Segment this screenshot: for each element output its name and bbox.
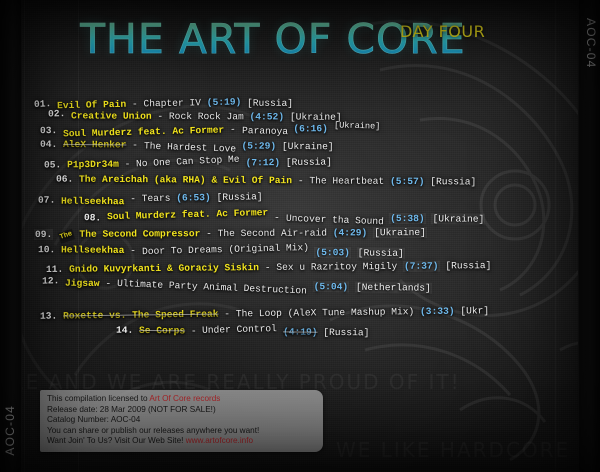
track-country: [Russia]	[357, 247, 405, 259]
track-number: 12.	[42, 275, 60, 286]
track-row: 02. Creative Union - Rock Rock Jam (4:52…	[48, 110, 342, 123]
track-duration: (6:53)	[176, 192, 211, 204]
website-prefix: Want Join' To Us? Visit Our Web Site!	[47, 436, 186, 445]
track-separator: -	[268, 212, 285, 223]
track-artist: Se Corps	[139, 325, 185, 336]
track-title: Tears	[142, 193, 171, 204]
track-artist: Hellseekhaa	[61, 196, 124, 208]
track-row: 06. The Areichah (aka RHA) & Evil Of Pai…	[56, 174, 476, 188]
track-separator: -	[152, 111, 169, 122]
track-duration: (3:33)	[420, 306, 455, 317]
track-title: No One Can Stop Me	[136, 154, 240, 170]
track-title: Uncover tha Sound	[285, 213, 383, 227]
track-row: 09. The The Second Compressor - The Seco…	[34, 227, 427, 242]
track-title: Sex u Razritoy Migily	[276, 261, 397, 273]
track-title: The Loop (AleX Tune Mashup Mix)	[236, 306, 415, 319]
track-separator: -	[126, 98, 144, 109]
track-number: 06.	[56, 174, 73, 185]
track-country: [Russia]	[286, 156, 332, 167]
track-duration: (4:29)	[333, 227, 368, 238]
track-country: [Russia]	[323, 327, 369, 338]
track-row: 01. Evil Of Pain - Chapter IV (5:19) [Ru…	[34, 95, 293, 111]
album-title-block: THE ART OF CORE THE ART OF CORE	[80, 14, 560, 66]
track-country: [Ukraine]	[282, 141, 334, 152]
track-separator: -	[224, 124, 241, 135]
track-number: 11.	[46, 264, 63, 275]
track-country: [Ukraine]	[334, 120, 381, 132]
track-title: The Hardest Love	[143, 140, 235, 154]
track-row: 12. Jigsaw - Ultimate Party Animal Destr…	[42, 277, 432, 293]
track-row: 13. Roxette vs. The Speed Freak - The Lo…	[40, 305, 489, 321]
track-country: [Ukr]	[460, 305, 489, 316]
license-info-panel: This compilation licensed to Art Of Core…	[40, 390, 323, 452]
track-number: 13.	[40, 311, 57, 322]
track-title: Chapter IV	[143, 97, 201, 109]
track-row: 14. Se Corps - Under Control (4:19) [Rus…	[116, 325, 369, 339]
track-number: 05.	[44, 159, 61, 170]
track-artist: The Areichah (aka RHA) & Evil Of Pain	[79, 174, 292, 186]
track-artist: The Second Compressor	[79, 228, 200, 240]
track-separator: -	[100, 278, 117, 289]
track-duration: (5:57)	[390, 176, 425, 187]
track-artist: Hellseekhaa	[61, 244, 124, 256]
track-separator: -	[185, 325, 202, 336]
track-duration: (5:04)	[313, 281, 350, 293]
track-separator: -	[292, 175, 309, 186]
share-permission-line: You can share or publish our releases an…	[47, 426, 316, 437]
track-separator: -	[119, 159, 136, 170]
track-number: 09.	[34, 229, 53, 240]
track-duration: (4:52)	[250, 111, 285, 122]
track-duration: (5:29)	[242, 140, 277, 151]
track-title: Paranoya	[241, 125, 287, 137]
track-duration: (5:03)	[314, 247, 351, 258]
seam-line	[24, 0, 25, 472]
release-date-line: Release date: 28 Mar 2009 (NOT FOR SALE!…	[47, 405, 316, 416]
track-title: Under Control	[202, 323, 277, 336]
label-name: Art Of Core records	[149, 394, 220, 403]
track-artist: AleX Henker	[63, 139, 126, 151]
track-title: Ultimate Party Animal Destruction	[117, 278, 307, 297]
right-spine-rail	[578, 0, 600, 472]
left-spine-rail	[0, 0, 22, 472]
track-duration: (5:19)	[207, 96, 242, 108]
license-line: This compilation licensed to Art Of Core…	[47, 394, 316, 405]
album-edition-label: DAY FOUR	[400, 22, 485, 41]
track-title: The Heartbeat	[309, 175, 384, 187]
track-country: [Russia]	[445, 260, 491, 271]
track-duration: (6:16)	[293, 123, 328, 134]
track-title: Door To Dreams (Original Mix)	[142, 242, 309, 257]
track-country: [Russia]	[430, 176, 476, 187]
track-artist: P1p3Dr34m	[67, 159, 119, 171]
track-duration: (4:19)	[283, 326, 318, 337]
track-separator: -	[124, 245, 141, 256]
track-artist: Soul Murderz feat. Ac Former	[63, 124, 224, 139]
track-country: [Ukraine]	[373, 227, 427, 238]
track-number: 04.	[40, 139, 57, 150]
track-number: 10.	[38, 244, 55, 255]
track-row: 05. P1p3Dr34m - No One Can Stop Me (7:12…	[44, 156, 332, 170]
track-number: 08.	[84, 212, 102, 224]
track-country: [Russia]	[216, 191, 262, 203]
track-separator: -	[124, 193, 141, 204]
license-prefix: This compilation licensed to	[47, 394, 149, 403]
track-row: 08. Soul Murderz feat. Ac Former - Uncov…	[84, 210, 485, 225]
catalog-label-bottom-left: AOC-04	[3, 405, 17, 456]
track-number: 03.	[40, 125, 57, 136]
track-row: 07. Hellseekhaa - Tears (6:53) [Russia]	[38, 191, 263, 206]
track-artist: Roxette vs. The Speed Freak	[63, 309, 219, 322]
track-duration: (7:37)	[403, 261, 440, 272]
track-separator: -	[218, 308, 235, 319]
track-row: 03. Soul Murderz feat. Ac Former - Paran…	[40, 123, 380, 137]
track-number: 07.	[38, 194, 55, 205]
track-separator: -	[126, 139, 143, 150]
track-title: Rock Rock Jam	[169, 111, 244, 122]
track-country: [Ukraine]	[431, 213, 485, 224]
website-line: Want Join' To Us? Visit Our Web Site! ww…	[47, 436, 316, 447]
track-title: The Second Air-raid	[218, 227, 327, 239]
track-row: 11. Gnido Kuvyrkanti & Goraciy Siskin - …	[46, 260, 491, 275]
catalog-label-top-right: AOC-04	[584, 18, 598, 69]
track-duration: (5:38)	[389, 213, 426, 224]
track-separator: -	[200, 228, 217, 239]
catalog-number-line: Catalog Number: AOC-04	[47, 415, 316, 426]
track-artist: Jigsaw	[65, 278, 100, 289]
track-artist: Creative Union	[71, 110, 152, 121]
track-country: [Russia]	[247, 98, 293, 109]
tracklist: 01. Evil Of Pain - Chapter IV (5:19) [Ru…	[26, 94, 574, 364]
album-title: THE ART OF CORE	[80, 14, 560, 64]
track-number: 14.	[116, 325, 133, 336]
track-duration: (7:12)	[246, 157, 281, 168]
the-badge-icon: The	[58, 229, 75, 244]
track-row: 10. Hellseekhaa - Door To Dreams (Origin…	[38, 244, 405, 259]
track-separator: -	[259, 262, 276, 273]
album-back-cover: ORE AND WE ARE REALLY PROUD OF IT! WE LI…	[0, 0, 600, 472]
track-artist: Soul Murderz feat. Ac Former	[107, 207, 268, 222]
track-number: 02.	[48, 108, 66, 120]
track-row: 04. AleX Henker - The Hardest Love (5:29…	[40, 139, 334, 153]
track-country: [Netherlands]	[355, 282, 432, 294]
website-url[interactable]: www.artofcore.info	[186, 436, 253, 445]
track-artist: Gnido Kuvyrkanti & Goraciy Siskin	[69, 262, 259, 275]
